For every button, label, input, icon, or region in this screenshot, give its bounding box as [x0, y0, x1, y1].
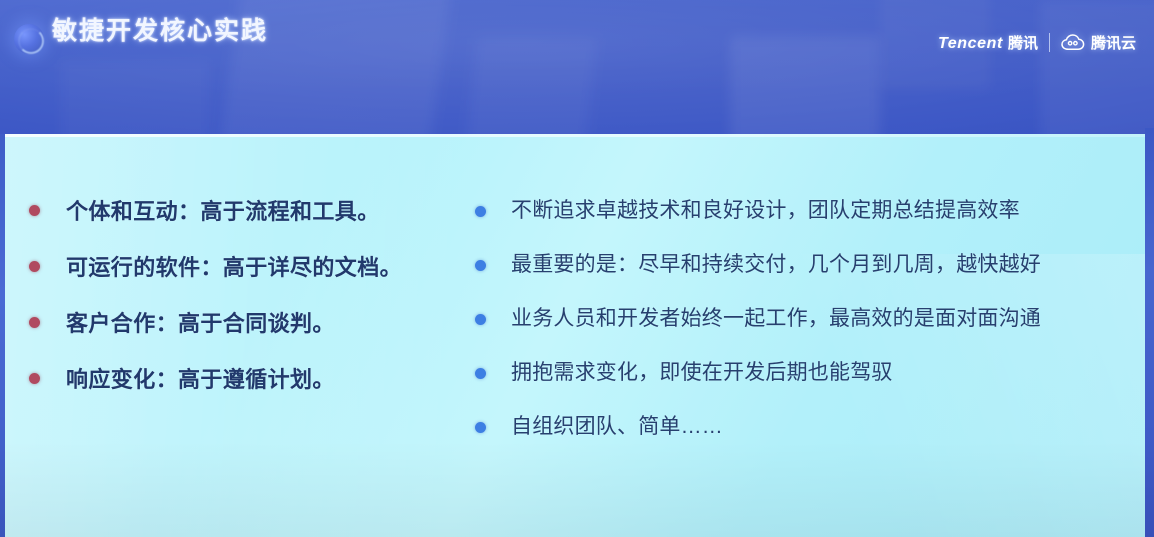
glow-crescent-icon	[14, 24, 44, 54]
presentation-slide-photo: 敏捷开发核心实践 Tencent 腾讯 腾讯云	[0, 0, 1154, 537]
blue-dot-icon	[475, 422, 486, 433]
red-dot-icon	[29, 261, 40, 272]
tencent-logo-cn: 腾讯	[1008, 32, 1038, 53]
screen-bezel-right	[1145, 128, 1154, 537]
tencent-cloud-label: 腾讯云	[1091, 32, 1136, 53]
list-item-label: 业务人员和开发者始终一起工作，最高效的是面对面沟通	[511, 302, 1041, 332]
list-item-label: 拥抱需求变化，即使在开发后期也能驾驭	[511, 356, 893, 386]
list-item: 个体和互动：高于流程和工具。	[29, 194, 469, 250]
slide-title: 敏捷开发核心实践	[52, 11, 268, 47]
list-item-label: 最重要的是：尽早和持续交付，几个月到几周，越快越好	[511, 248, 1041, 278]
slide-content-panel: 个体和互动：高于流程和工具。 可运行的软件：高于详尽的文档。 客户合作：高于合同…	[5, 134, 1145, 537]
list-item-label: 可运行的软件：高于详尽的文档。	[66, 250, 402, 282]
red-dot-icon	[29, 373, 40, 384]
blue-dot-icon	[475, 206, 486, 217]
list-item: 业务人员和开发者始终一起工作，最高效的是面对面沟通	[475, 302, 1135, 356]
bullet-column-right: 不断追求卓越技术和良好设计，团队定期总结提高效率 最重要的是：尽早和持续交付，几…	[475, 194, 1135, 464]
bullet-column-left: 个体和互动：高于流程和工具。 可运行的软件：高于详尽的文档。 客户合作：高于合同…	[29, 194, 469, 418]
blue-dot-icon	[475, 260, 486, 271]
list-item-label: 自组织团队、简单……	[511, 410, 723, 440]
tencent-logo: Tencent 腾讯	[938, 32, 1038, 53]
cloud-icon	[1061, 34, 1085, 51]
blue-dot-icon	[475, 314, 486, 325]
tencent-logo-en: Tencent	[938, 35, 1003, 53]
list-item-label: 个体和互动：高于流程和工具。	[66, 194, 380, 226]
list-item: 响应变化：高于遵循计划。	[29, 362, 469, 418]
list-item: 拥抱需求变化，即使在开发后期也能驾驭	[475, 356, 1135, 410]
tencent-brand-lockup: Tencent 腾讯 腾讯云	[938, 32, 1136, 53]
brand-divider	[1049, 33, 1050, 52]
list-item: 最重要的是：尽早和持续交付，几个月到几周，越快越好	[475, 248, 1135, 302]
list-item-label: 不断追求卓越技术和良好设计，团队定期总结提高效率	[511, 194, 1020, 224]
list-item: 客户合作：高于合同谈判。	[29, 306, 469, 362]
list-item-label: 响应变化：高于遵循计划。	[66, 362, 335, 394]
bullet-columns: 个体和互动：高于流程和工具。 可运行的软件：高于详尽的文档。 客户合作：高于合同…	[5, 134, 1145, 537]
list-item: 自组织团队、简单……	[475, 410, 1135, 464]
blue-dot-icon	[475, 368, 486, 379]
list-item: 可运行的软件：高于详尽的文档。	[29, 250, 469, 306]
tencent-cloud-logo: 腾讯云	[1061, 32, 1136, 53]
list-item: 不断追求卓越技术和良好设计，团队定期总结提高效率	[475, 194, 1135, 248]
list-item-label: 客户合作：高于合同谈判。	[66, 306, 335, 338]
red-dot-icon	[29, 317, 40, 328]
red-dot-icon	[29, 205, 40, 216]
